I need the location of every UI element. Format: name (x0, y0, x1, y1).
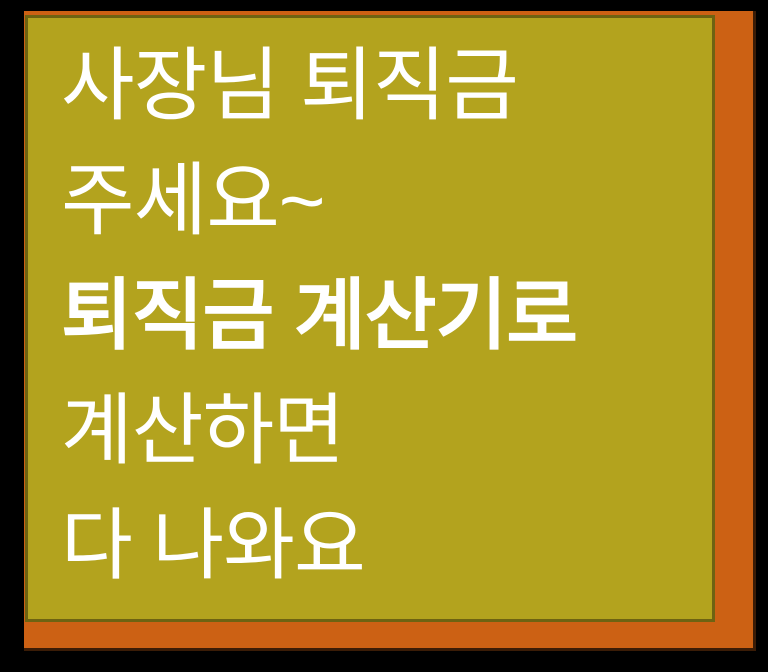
headline-line-5: 다 나와요 (61, 488, 761, 603)
olive-content-panel: 사장님 퇴직금 주세요~ 퇴직금 계산기로 계산하면 다 나와요 (25, 15, 715, 622)
headline-line-3: 퇴직금 계산기로 (61, 258, 761, 373)
headline-text-block: 사장님 퇴직금 주세요~ 퇴직금 계산기로 계산하면 다 나와요 (61, 28, 761, 603)
headline-line-4: 계산하면 (61, 373, 761, 488)
headline-line-2: 주세요~ (61, 143, 761, 258)
slide-canvas: 사장님 퇴직금 주세요~ 퇴직금 계산기로 계산하면 다 나와요 (0, 0, 768, 672)
headline-line-1: 사장님 퇴직금 (61, 28, 761, 143)
